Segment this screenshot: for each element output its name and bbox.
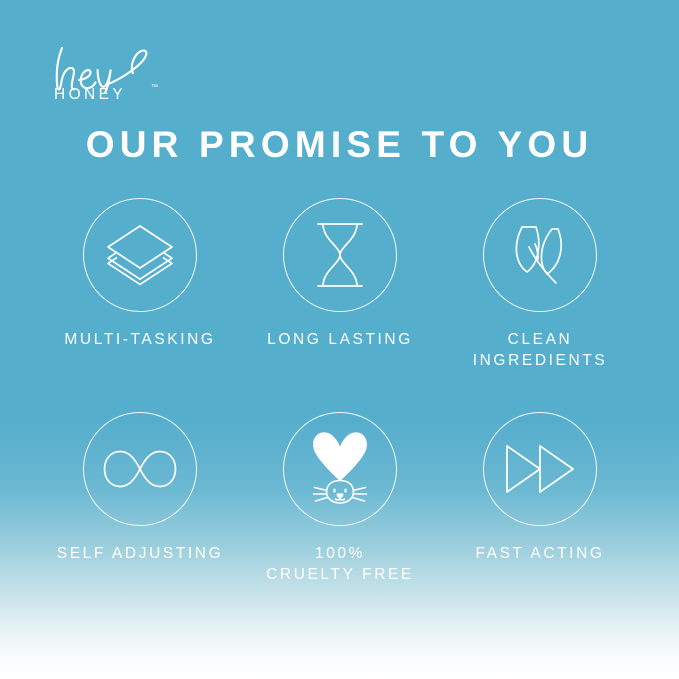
- icon-circle: [83, 412, 197, 526]
- hourglass-icon: [305, 217, 375, 293]
- promise-item-self-adjusting: SELF ADJUSTING: [40, 412, 240, 586]
- promise-item-cruelty-free: 100% CRUELTY FREE: [240, 412, 440, 586]
- page-title: OUR PROMISE TO YOU: [0, 125, 679, 166]
- promise-label: CLEAN INGREDIENTS: [473, 330, 608, 372]
- promise-item-fast-acting: FAST ACTING: [440, 412, 640, 586]
- promise-item-clean-ingredients: CLEAN INGREDIENTS: [440, 198, 640, 372]
- icon-circle: [483, 198, 597, 312]
- leaves-icon: [502, 217, 578, 293]
- layers-icon: [102, 217, 178, 293]
- icon-circle: [483, 412, 597, 526]
- promise-label: FAST ACTING: [475, 544, 604, 565]
- infinity-icon: [101, 447, 179, 491]
- promise-label: LONG LASTING: [267, 330, 413, 351]
- brand-wordmark: HONEY: [54, 87, 126, 103]
- promise-grid: MULTI-TASKING LONG LASTING: [40, 198, 640, 586]
- promise-label: SELF ADJUSTING: [57, 544, 223, 565]
- promise-card: HONEY ™ OUR PROMISE TO YOU MULTI-TASKING: [0, 0, 679, 679]
- promise-label: MULTI-TASKING: [64, 330, 215, 351]
- brand-logo: HONEY ™: [52, 44, 212, 116]
- fast-forward-icon: [504, 443, 576, 495]
- icon-circle: [283, 198, 397, 312]
- promise-item-multi-tasking: MULTI-TASKING: [40, 198, 240, 372]
- icon-circle: [83, 198, 197, 312]
- promise-label: 100% CRUELTY FREE: [266, 544, 414, 586]
- trademark-symbol: ™: [151, 84, 158, 91]
- icon-circle: [283, 412, 397, 526]
- promise-item-long-lasting: LONG LASTING: [240, 198, 440, 372]
- bunny-heart-icon: [301, 428, 379, 510]
